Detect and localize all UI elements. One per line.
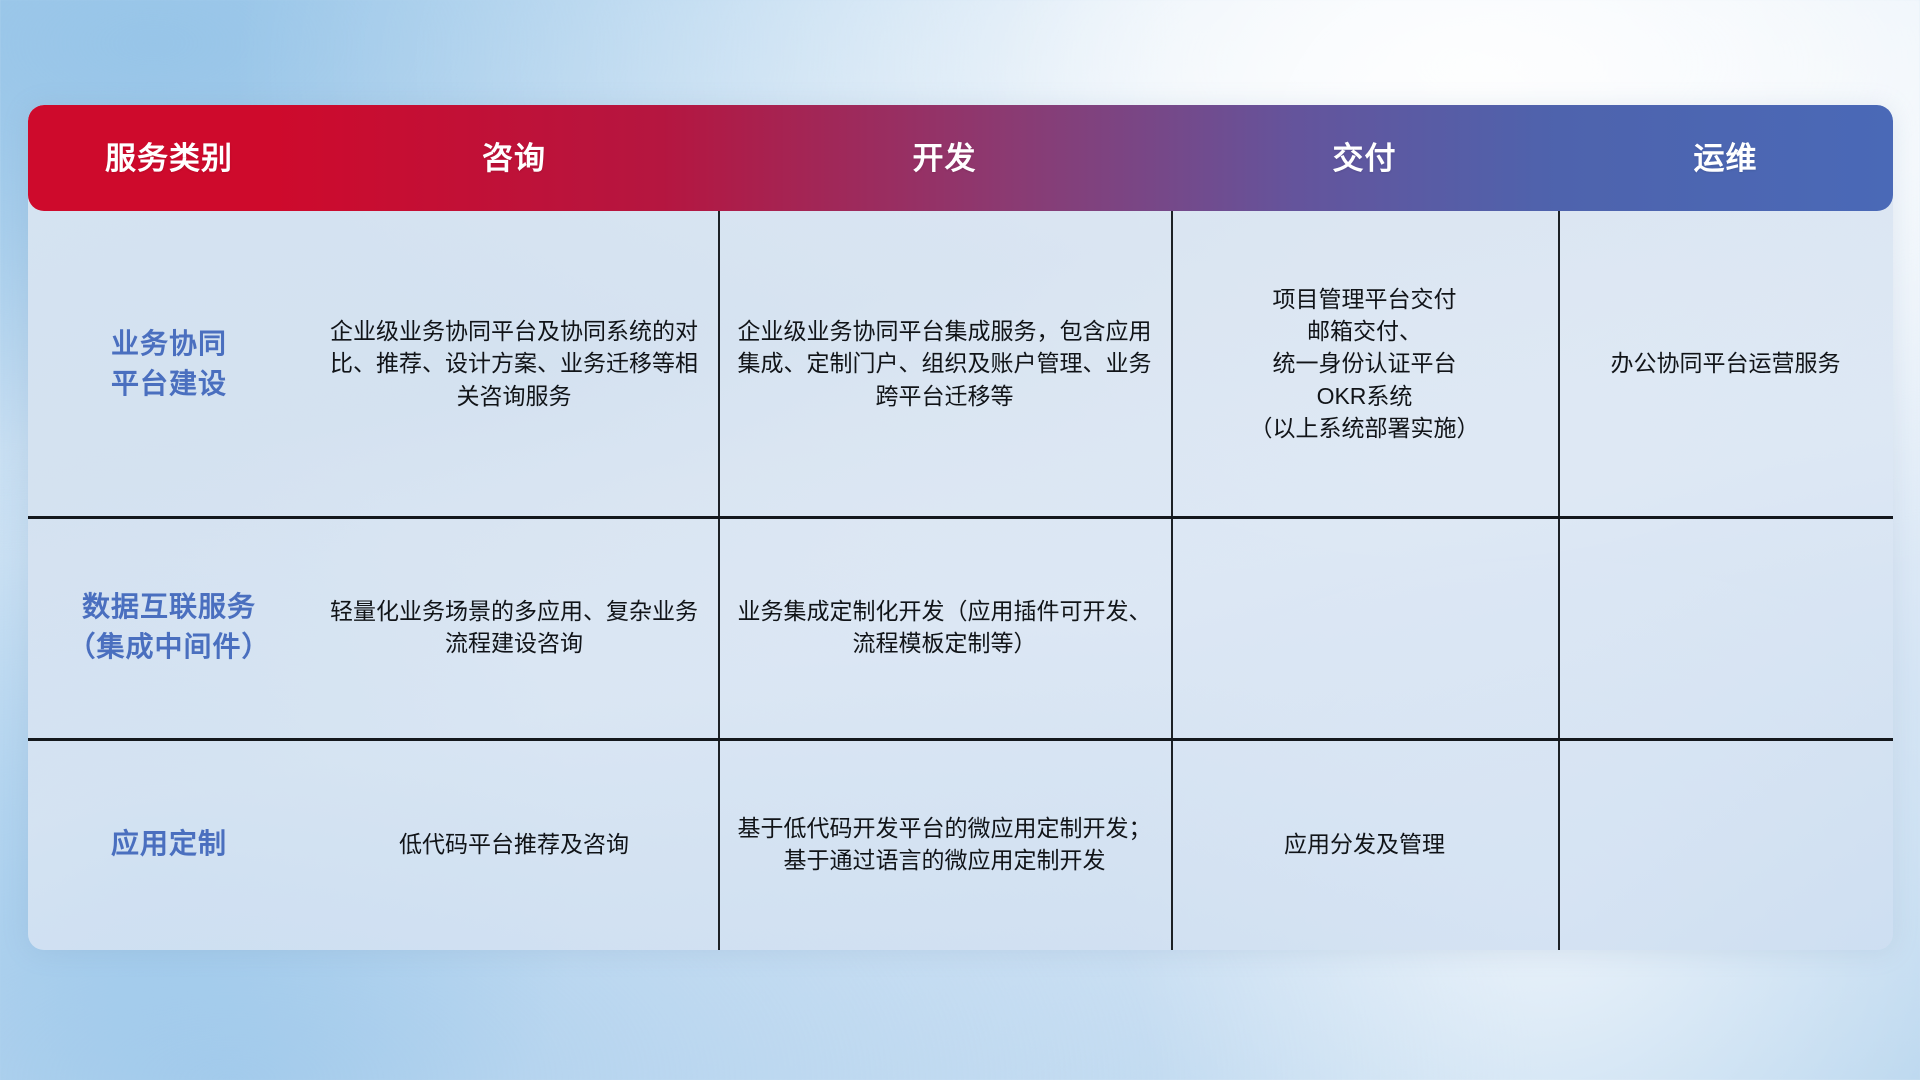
cell-development-row3: 基于低代码开发平台的微应用定制开发； 基于通过语言的微应用定制开发: [718, 738, 1171, 950]
column-header-category: 服务类别: [28, 143, 310, 174]
cell-operations-row3: [1558, 738, 1893, 950]
cell-development-row1: 企业级业务协同平台集成服务，包含应用集成、定制门户、组织及账户管理、业务跨平台迁…: [718, 211, 1171, 516]
row-label-data-interconnect: 数据互联服务 （集成中间件）: [28, 516, 310, 738]
cell-delivery-row1: 项目管理平台交付 邮箱交付、 统一身份认证平台 OKR系统 （以上系统部署实施）: [1171, 211, 1558, 516]
row-divider-2: [28, 738, 1893, 741]
column-header-development: 开发: [718, 143, 1171, 174]
table-row: 数据互联服务 （集成中间件） 轻量化业务场景的多应用、复杂业务流程建设咨询 业务…: [28, 516, 1893, 738]
cell-operations-row2: [1558, 516, 1893, 738]
cell-consulting-row3: 低代码平台推荐及咨询: [310, 738, 718, 950]
row-divider-1: [28, 516, 1893, 519]
row-label-app-customization: 应用定制: [28, 738, 310, 950]
column-header-consulting: 咨询: [310, 143, 718, 174]
row-label-business-collaboration: 业务协同 平台建设: [28, 211, 310, 516]
table-row: 业务协同 平台建设 企业级业务协同平台及协同系统的对比、推荐、设计方案、业务迁移…: [28, 211, 1893, 516]
cell-consulting-row1: 企业级业务协同平台及协同系统的对比、推荐、设计方案、业务迁移等相关咨询服务: [310, 211, 718, 516]
table-header-row: 服务类别 咨询 开发 交付 运维: [28, 105, 1893, 211]
column-divider-3: [1558, 211, 1560, 950]
column-divider-1: [718, 211, 720, 950]
cell-delivery-row2: [1171, 516, 1558, 738]
column-header-operations: 运维: [1558, 143, 1893, 174]
cell-consulting-row2: 轻量化业务场景的多应用、复杂业务流程建设咨询: [310, 516, 718, 738]
table-body: 业务协同 平台建设 企业级业务协同平台及协同系统的对比、推荐、设计方案、业务迁移…: [28, 211, 1893, 950]
cell-delivery-row3: 应用分发及管理: [1171, 738, 1558, 950]
cell-operations-row1: 办公协同平台运营服务: [1558, 211, 1893, 516]
cell-development-row2: 业务集成定制化开发（应用插件可开发、流程模板定制等）: [718, 516, 1171, 738]
table-row: 应用定制 低代码平台推荐及咨询 基于低代码开发平台的微应用定制开发； 基于通过语…: [28, 738, 1893, 950]
service-matrix-table: 服务类别 咨询 开发 交付 运维 业务协同 平台建设 企业级业务协同平台及协同系…: [28, 105, 1893, 950]
column-divider-2: [1171, 211, 1173, 950]
column-header-delivery: 交付: [1171, 143, 1558, 174]
